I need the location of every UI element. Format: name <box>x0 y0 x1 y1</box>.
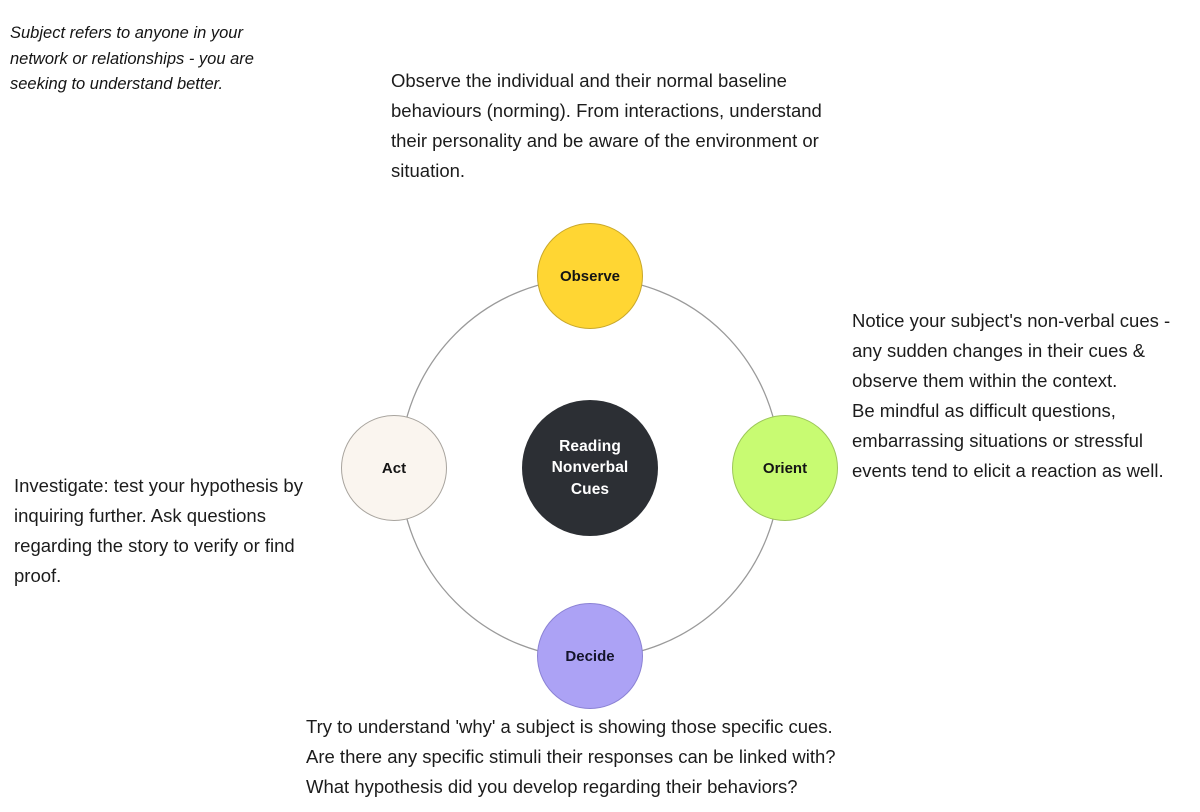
node-observe-label: Observe <box>560 268 620 285</box>
orient-description: Notice your subject's non-verbal cues - … <box>852 306 1194 486</box>
act-description: Investigate: test your hypothesis by inq… <box>14 471 340 591</box>
node-act-label: Act <box>382 460 406 477</box>
node-decide-label: Decide <box>565 648 614 665</box>
node-center-label: Reading Nonverbal Cues <box>552 436 629 499</box>
node-observe[interactable]: Observe <box>537 223 643 329</box>
node-act[interactable]: Act <box>341 415 447 521</box>
node-orient-label: Orient <box>763 460 807 477</box>
node-orient[interactable]: Orient <box>732 415 838 521</box>
node-decide[interactable]: Decide <box>537 603 643 709</box>
subject-definition-note: Subject refers to anyone in your network… <box>10 21 302 98</box>
ooda-cycle-diagram: Reading Nonverbal Cues Observe Orient De… <box>330 210 850 730</box>
diagram-canvas: Subject refers to anyone in your network… <box>0 0 1200 812</box>
observe-description: Observe the individual and their normal … <box>391 66 837 186</box>
node-center-reading-nonverbal-cues[interactable]: Reading Nonverbal Cues <box>522 400 658 536</box>
